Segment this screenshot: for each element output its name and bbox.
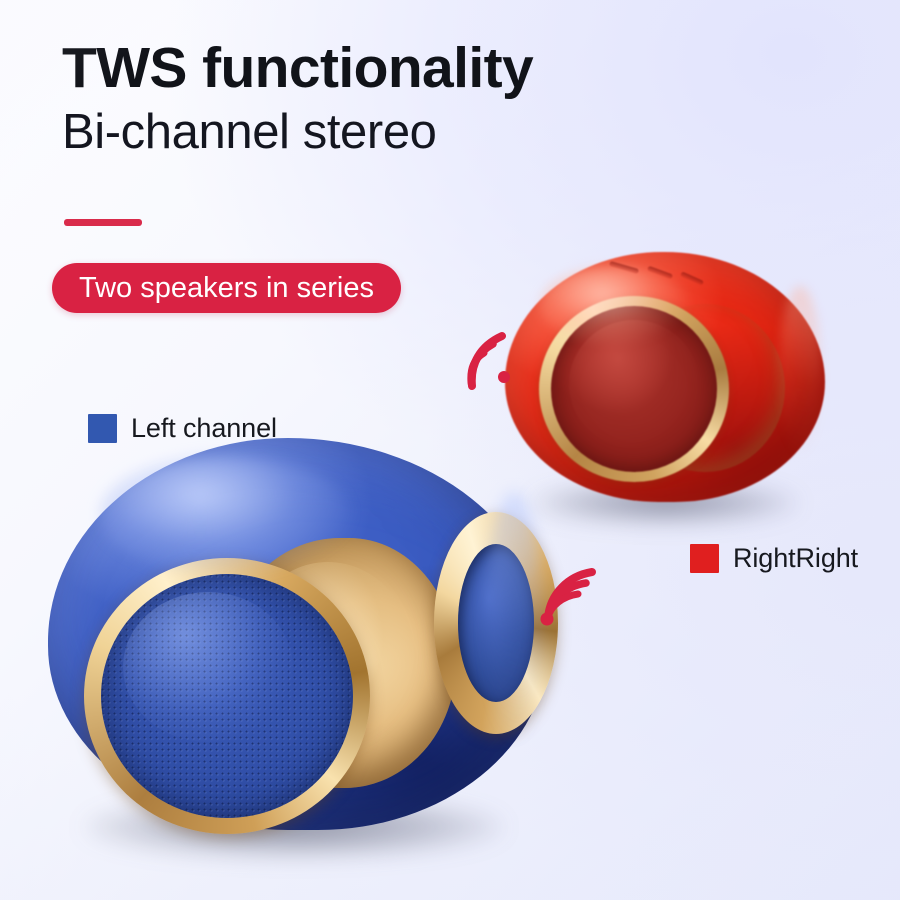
blue-speaker-gloss-highlight	[100, 456, 350, 574]
red-speaker-body	[505, 252, 825, 502]
product-marketing-banner: TWS functionality Bi-channel stereo Two …	[0, 0, 900, 900]
blue-speaker-body	[48, 438, 548, 830]
red-speaker-control-buttons	[609, 256, 729, 282]
legend-left-channel: Left channel	[88, 413, 277, 444]
legend-right-channel: RightRight	[690, 543, 858, 574]
red-speaker-rim-light	[779, 286, 821, 456]
red-square-swatch	[690, 544, 719, 573]
signal-wave-icon	[534, 556, 606, 636]
feature-badge: Two speakers in series	[52, 263, 401, 313]
signal-wave-icon	[444, 322, 516, 402]
headline-line-2: Bi-channel stereo	[62, 105, 842, 160]
blue-speaker-bezel-ring	[84, 558, 370, 834]
accent-rule-divider	[64, 219, 142, 226]
headline-block: TWS functionality Bi-channel stereo	[62, 38, 842, 160]
blue-speaker-driver-cone	[101, 574, 353, 818]
legend-right-channel-label: RightRight	[733, 543, 858, 574]
headline-line-1: TWS functionality	[62, 38, 842, 98]
blue-speaker-grille-highlight	[123, 592, 293, 742]
red-bluetooth-speaker	[505, 250, 825, 522]
legend-left-channel-label: Left channel	[131, 413, 277, 444]
blue-bluetooth-speaker	[48, 438, 548, 868]
blue-square-swatch	[88, 414, 117, 443]
